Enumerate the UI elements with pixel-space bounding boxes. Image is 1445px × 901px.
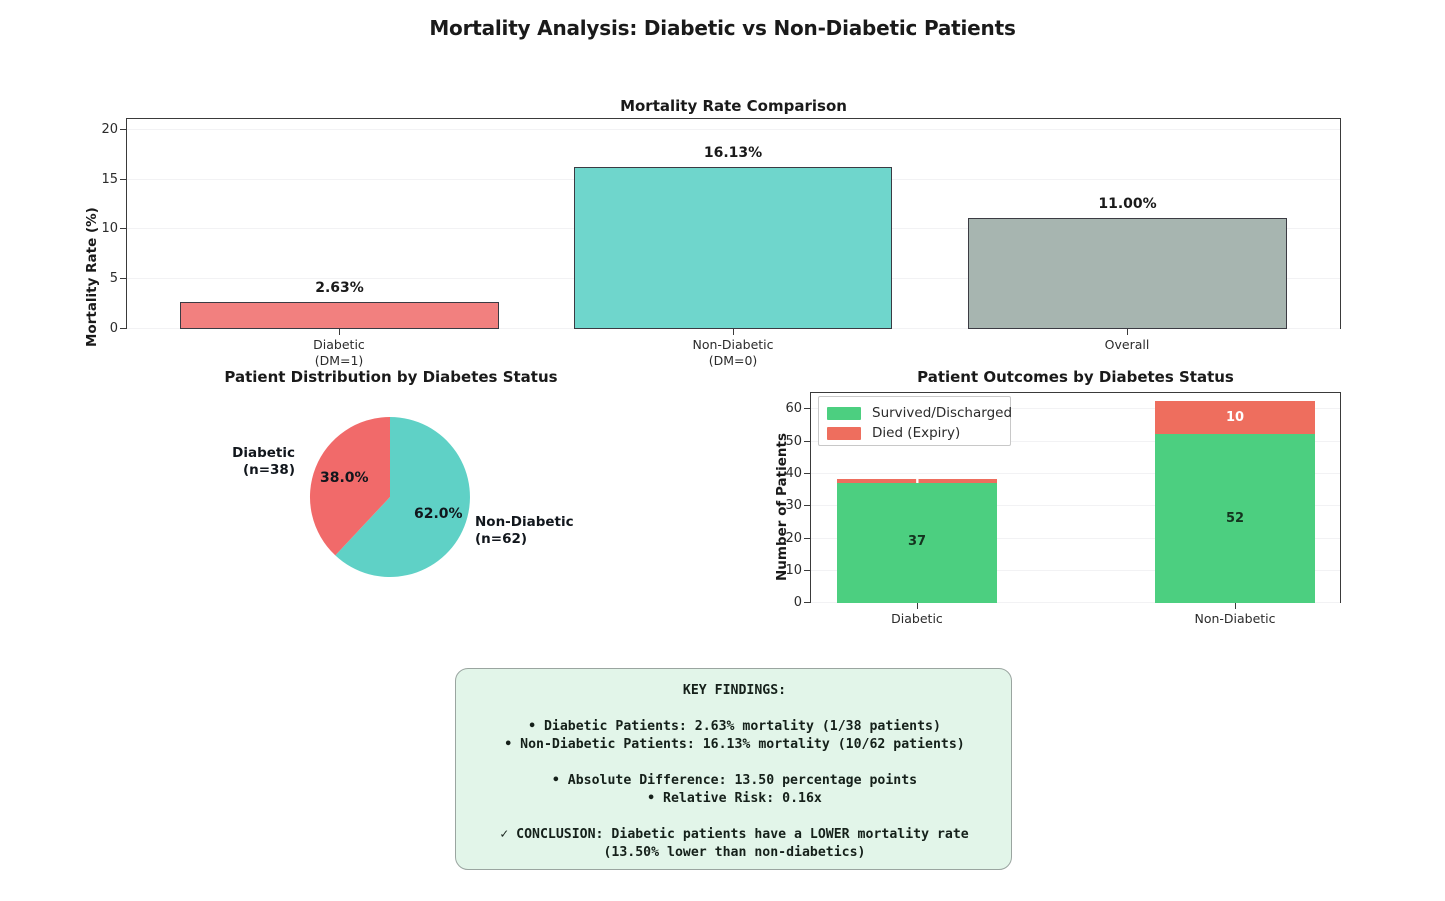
key-findings-text: KEY FINDINGS: • Diabetic Patients: 2.63%…: [456, 682, 1013, 862]
chart1-ytick-label: 10: [94, 221, 118, 236]
chart1-ytick-label: 0: [94, 321, 118, 336]
chart3-ytick-label: 0: [778, 595, 802, 610]
legend-swatch-survived-icon: [827, 407, 861, 420]
pie-label-non-diabetic: Non-Diabetic (n=62): [475, 514, 675, 548]
chart1-title: Mortality Rate Comparison: [126, 97, 1341, 115]
chart1-ytick-label: 5: [94, 271, 118, 286]
chart1-ytick-label: 20: [94, 122, 118, 137]
stacked-bar-non-diabetic[interactable]: 10 52: [1155, 401, 1315, 603]
chart3-ytick-label: 30: [778, 498, 802, 513]
chart1-bar-overall[interactable]: [968, 218, 1287, 329]
key-findings-box: KEY FINDINGS: • Diabetic Patients: 2.63%…: [455, 668, 1012, 870]
chart3-ytick-label: 50: [778, 434, 802, 449]
legend-item-died[interactable]: Died (Expiry): [827, 423, 1000, 443]
chart1-xtick-label-diabetic: Diabetic (DM=1): [189, 337, 489, 368]
chart1-xtick-label-overall: Overall: [977, 337, 1277, 353]
chart1-xtick-mark: [339, 329, 340, 335]
chart1-gridline: [127, 129, 1340, 130]
chart-patient-outcomes: Patient Outcomes by Diabetes Status Numb…: [760, 366, 1360, 631]
chart3-ytick-mark: [804, 505, 810, 506]
pie-pct-diabetic: 38.0%: [320, 470, 369, 486]
chart1-bar-value-non-diabetic: 16.13%: [574, 145, 892, 161]
chart1-xtick-mark: [733, 329, 734, 335]
chart3-title: Patient Outcomes by Diabetes Status: [810, 368, 1341, 386]
legend-item-survived[interactable]: Survived/Discharged: [827, 403, 1000, 423]
chart1-xtick-label-non-diabetic: Non-Diabetic (DM=0): [583, 337, 883, 368]
chart-mortality-rate-comparison: Mortality Rate Comparison Mortality Rate…: [0, 92, 1445, 367]
chart3-ytick-label: 60: [778, 401, 802, 416]
chart1-ytick-label: 15: [94, 172, 118, 187]
chart3-xtick-mark: [917, 603, 918, 609]
chart3-ytick-label: 10: [778, 563, 802, 578]
chart1-ytick-mark: [120, 179, 126, 180]
chart3-ytick-mark: [804, 408, 810, 409]
stacked-bar-diabetic[interactable]: 1 37: [837, 479, 997, 603]
chart3-legend: Survived/Discharged Died (Expiry): [818, 396, 1011, 446]
chart3-ytick-label: 40: [778, 466, 802, 481]
legend-label-died: Died (Expiry): [872, 425, 960, 441]
page-title: Mortality Analysis: Diabetic vs Non-Diab…: [0, 16, 1445, 40]
legend-swatch-died-icon: [827, 427, 861, 440]
chart1-xtick-mark: [1127, 329, 1128, 335]
pie-chart-svg: [300, 407, 480, 587]
pie-label-diabetic: Diabetic (n=38): [170, 445, 295, 479]
chart3-ytick-mark: [804, 441, 810, 442]
pie-pct-non-diabetic: 62.0%: [414, 506, 463, 522]
stack-label-survived-non-diabetic: 52: [1155, 511, 1315, 526]
chart3-xtick-label-non-diabetic: Non-Diabetic: [1135, 611, 1335, 627]
chart3-xtick-label-diabetic: Diabetic: [817, 611, 1017, 627]
chart1-bar-non-diabetic[interactable]: [574, 167, 892, 329]
stack-label-died-non-diabetic: 10: [1155, 410, 1315, 425]
chart1-bar-diabetic[interactable]: [180, 302, 499, 329]
stack-label-survived-diabetic: 37: [837, 534, 997, 549]
chart2-title: Patient Distribution by Diabetes Status: [110, 368, 672, 386]
chart1-ytick-mark: [120, 228, 126, 229]
legend-label-survived: Survived/Discharged: [872, 405, 1012, 421]
chart1-ytick-mark: [120, 129, 126, 130]
chart3-xtick-mark: [1235, 603, 1236, 609]
chart1-bar-value-overall: 11.00%: [968, 196, 1287, 212]
chart3-ytick-mark: [804, 473, 810, 474]
chart1-bar-value-diabetic: 2.63%: [180, 280, 499, 296]
chart3-ytick-mark: [804, 538, 810, 539]
chart3-ytick-label: 20: [778, 531, 802, 546]
chart-patient-distribution: Patient Distribution by Diabetes Status …: [110, 366, 710, 606]
chart1-ytick-mark: [120, 278, 126, 279]
chart3-ytick-mark: [804, 602, 810, 603]
chart3-ytick-mark: [804, 570, 810, 571]
chart1-ytick-mark: [120, 328, 126, 329]
